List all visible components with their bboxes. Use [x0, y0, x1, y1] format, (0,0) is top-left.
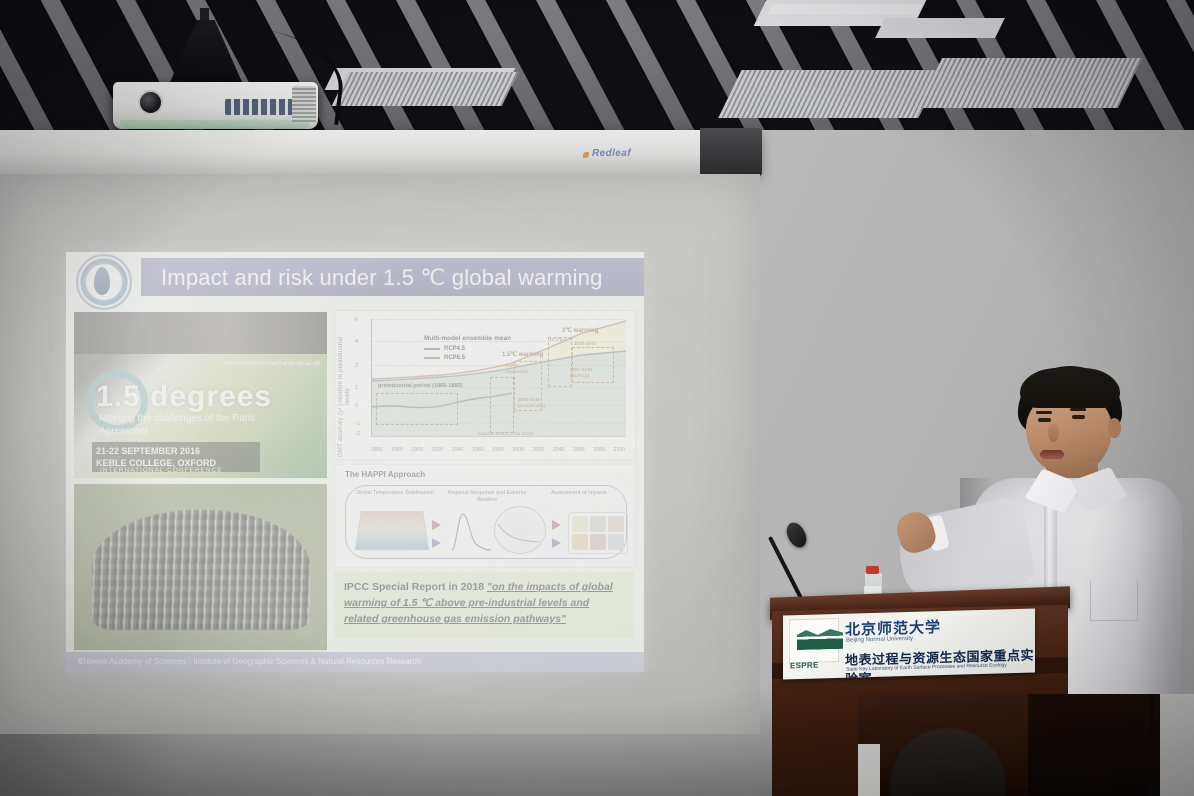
- x-tick: 2060: [573, 447, 585, 453]
- legend-label: RCP4.5: [444, 346, 465, 352]
- warming-2-sub-a: RCP8.5: [550, 337, 566, 343]
- foreground-light-edge: [858, 744, 880, 796]
- speaker-nose: [1048, 424, 1059, 442]
- poster-aerial-strip: [74, 312, 327, 354]
- poster-kicker: INTERNATIONAL CONFERENCE: [100, 467, 223, 474]
- impact-icon-crop: [572, 516, 588, 532]
- baseline-box: [490, 377, 514, 433]
- x-tick: 2100: [613, 447, 625, 453]
- impact-icon-health: [590, 534, 606, 550]
- slide-footer: Chinese Academy of Sciences - Institute …: [66, 652, 644, 672]
- chart-x-axis-ticks: 1860 1880 1900 1920 1940 1960 1980 2000 …: [371, 447, 625, 453]
- chart-legend: Multi-model ensemble mean RCP4.5 RCP8.5: [424, 335, 511, 364]
- bottle-cap: [866, 566, 879, 574]
- ceiling: [0, 0, 1194, 150]
- speaker-eye-right: [1072, 415, 1085, 419]
- projected-slide: Impact and risk under 1.5 ℃ global warmi…: [66, 252, 644, 672]
- projection-screen-housing: [0, 130, 760, 174]
- crowd-of-attendees: [92, 510, 310, 630]
- impact-icon-heat: [572, 534, 588, 550]
- distribution-curve-icon: [450, 508, 492, 552]
- conference-group-photo: [74, 484, 327, 650]
- impact-icon-city: [608, 516, 624, 532]
- arrow-right-red-icon-2: [552, 520, 561, 530]
- happi-column-label: Global Temperature Stabilisation: [352, 490, 438, 497]
- warming-2-period: 2091-2100(RCP4.5): [570, 367, 604, 379]
- impact-icon-water: [608, 534, 624, 550]
- slide-title: Impact and risk under 1.5 ℃ global warmi…: [161, 265, 631, 291]
- podium-sign: ESPRE 北京师范大学 Beijing Normal University 地…: [783, 608, 1035, 679]
- x-tick: 2040: [553, 447, 565, 453]
- conference-poster-image: www.environmentalchange.ox.ac.uk 1.5 deg…: [74, 312, 327, 478]
- warming-2-box-a: [548, 337, 572, 387]
- gmt-projection-chart: GMT anomaly (℃) relative to preindustria…: [334, 310, 636, 460]
- ipcc-note-text: IPCC Special Report in 2018 "on the impa…: [344, 579, 626, 627]
- speaker-shirt-pocket: [1090, 580, 1138, 621]
- impact-icon-forest: [590, 516, 606, 532]
- y-tick: -2: [355, 431, 360, 437]
- y-tick: 2: [355, 363, 358, 369]
- warming-2-label: 2℃ warming: [562, 327, 598, 334]
- poster-dates: 21-22 SEPTEMBER 2016: [96, 445, 256, 457]
- x-tick: 1980: [492, 447, 504, 453]
- speaker-eye-left: [1038, 418, 1051, 422]
- happi-approach-diagram: The HAPPI Approach Global Temperature St…: [334, 464, 636, 568]
- espre-logo-text: ESPRE: [790, 660, 836, 670]
- poster-headline: 1.5 degrees: [96, 380, 272, 414]
- projector-lens-icon: [138, 90, 163, 115]
- y-tick: 1: [355, 385, 358, 391]
- x-tick: 1900: [411, 447, 423, 453]
- warming-1p5-label: 1.5℃ warming: [502, 351, 543, 358]
- y-tick: 0: [355, 403, 358, 409]
- y-tick: -1: [355, 421, 360, 427]
- chart-y-axis-label: GMT anomaly (℃) relative to preindustria…: [338, 335, 352, 459]
- university-name-en: Beijing Normal University: [846, 636, 913, 644]
- x-tick: 1940: [452, 447, 464, 453]
- happi-column-label: Regional Response and Extreme Weather: [444, 490, 530, 504]
- x-tick: 2020: [533, 447, 545, 453]
- espre-logo-icon: [789, 618, 839, 663]
- hanging-cable: [1150, 694, 1153, 796]
- happi-column-label: Assessment of Impacts: [536, 490, 622, 497]
- speaker-hair-front: [1020, 368, 1120, 408]
- x-tick: 2080: [593, 447, 605, 453]
- global-temperature-grid-icon: [355, 511, 430, 550]
- projector-underglow: [120, 120, 310, 129]
- regional-response-curve-icon: [497, 520, 541, 544]
- arrow-right-red-icon: [432, 520, 441, 530]
- poster-subtitle: Meeting the challenges of the Paris Agre…: [99, 412, 259, 438]
- speaker-brow-left: [1036, 411, 1052, 414]
- x-tick: 2000: [512, 447, 524, 453]
- preindustrial-label: preindustrial period (1860-1880): [378, 383, 463, 389]
- legend-swatch: [424, 357, 440, 359]
- happi-outline: Global Temperature Stabilisation Regiona…: [345, 485, 627, 559]
- speaker-mouth: [1040, 450, 1064, 459]
- y-tick: 6: [355, 317, 358, 323]
- baseline-label: baseline period (1996-2015): [478, 431, 533, 436]
- arrow-right-blue-icon-2: [552, 538, 561, 548]
- poster-url: www.environmentalchange.ox.ac.uk: [224, 360, 320, 369]
- screen-brand-label: Redleaf: [592, 148, 631, 159]
- foreground-wall-edge: [1160, 694, 1194, 796]
- legend-swatch: [424, 348, 440, 350]
- happi-title: The HAPPI Approach: [345, 470, 425, 479]
- x-tick: 1960: [472, 447, 484, 453]
- screen-housing-end-cap: [700, 128, 762, 176]
- speaker-brow-right: [1070, 408, 1086, 411]
- espre-wave-icon: [797, 627, 843, 650]
- speaker-ear: [1108, 418, 1121, 438]
- slide-page-number: 4: [78, 657, 634, 666]
- arrow-right-blue-icon: [432, 538, 441, 548]
- y-tick: 4: [355, 339, 358, 345]
- legend-entry: RCP8.5: [424, 355, 511, 361]
- impact-icons-panel: [568, 512, 628, 554]
- x-tick: 1920: [432, 447, 444, 453]
- x-tick: 1880: [391, 447, 403, 453]
- legend-label: RCP8.5: [444, 355, 465, 361]
- legend-entry: RCP4.5: [424, 346, 511, 352]
- warming-1p5-period: 2006-2015(present day): [518, 397, 548, 409]
- warming-1p5-sub: HAPPIexperiment: [505, 363, 535, 375]
- chart-plot-area: Multi-model ensemble mean RCP4.5 RCP8.5 …: [371, 319, 625, 437]
- presentation-room-photo: Redleaf Impact and risk under 1.5 ℃ glob…: [0, 0, 1194, 796]
- warming-2-sub-b: 2036-2045: [574, 341, 596, 347]
- preindustrial-box: [376, 393, 458, 425]
- legend-title: Multi-model ensemble mean: [424, 335, 511, 342]
- institute-seal-icon: [76, 254, 132, 310]
- hvac-vent-panel: [332, 72, 519, 106]
- ipcc-note-box: IPCC Special Report in 2018 "on the impa…: [334, 572, 634, 638]
- ipcc-lead: IPCC Special Report in 2018: [344, 581, 487, 593]
- x-tick: 1860: [371, 447, 383, 453]
